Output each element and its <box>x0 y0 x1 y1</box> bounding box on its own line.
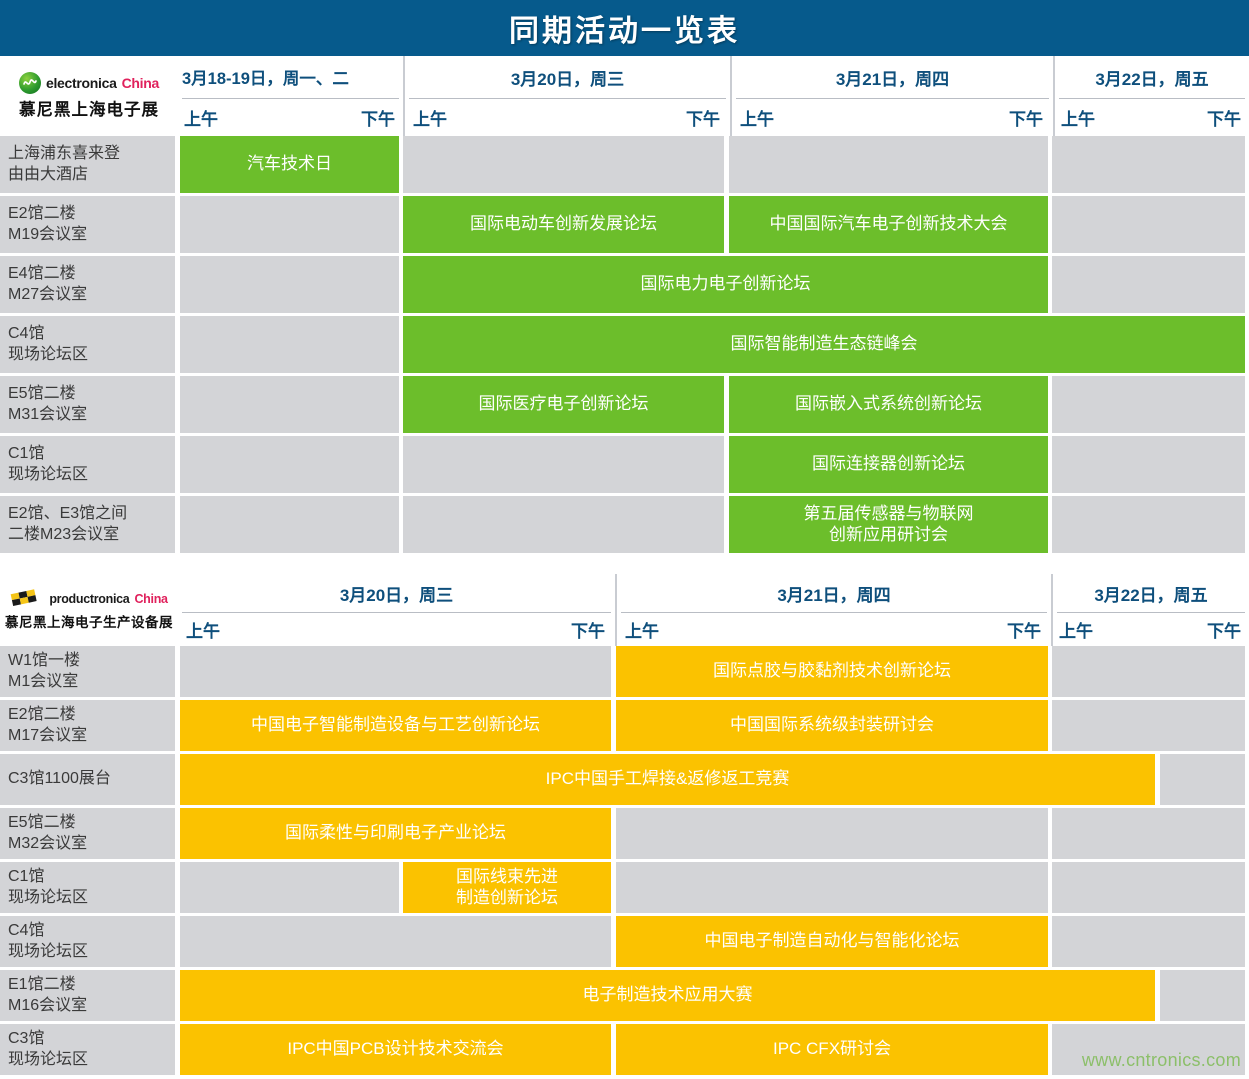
empty-cell <box>180 376 399 433</box>
venue-cell: E4馆二楼M27会议室 <box>0 256 175 313</box>
empty-cell <box>1052 646 1245 697</box>
event-cell[interactable]: 国际连接器创新论坛 <box>729 436 1048 493</box>
am-label: 上午 <box>617 613 834 646</box>
date-column-mar22: 3月22日，周五 上午 下午 <box>1051 574 1249 646</box>
venue-line: 上海浦东喜来登 <box>8 144 175 164</box>
venue-line: M32会议室 <box>8 834 175 854</box>
venue-cell: E2馆、E3馆之间二楼M23会议室 <box>0 496 175 553</box>
empty-cell <box>729 136 1048 193</box>
venue-line: 现场论坛区 <box>8 888 175 908</box>
venue-line: C4馆 <box>8 324 175 344</box>
empty-cell <box>1160 754 1245 805</box>
empty-cell <box>180 646 611 697</box>
site-watermark: www.cntronics.com <box>1082 1050 1241 1071</box>
electronica-wordmark: electronica <box>46 75 117 91</box>
electronica-chinese-name: 慕尼黑上海电子展 <box>19 96 159 120</box>
pm-label: 下午 <box>1151 613 1249 646</box>
venue-line: E4馆二楼 <box>8 264 175 284</box>
event-cell[interactable]: 第五届传感器与物联网 创新应用研讨会 <box>729 496 1048 553</box>
productronica-wordmark: productronica <box>49 592 129 606</box>
event-title: 国际线束先进 <box>456 867 558 888</box>
empty-cell <box>1052 256 1245 313</box>
venue-cell: E2馆二楼M19会议室 <box>0 196 175 253</box>
event-cell[interactable]: 国际线束先进 制造创新论坛 <box>403 862 611 913</box>
empty-cell <box>1052 496 1245 553</box>
venue-line: E2馆二楼 <box>8 705 175 725</box>
pm-label: 下午 <box>893 99 1054 136</box>
venue-line: 二楼M23会议室 <box>8 525 175 545</box>
empty-cell <box>180 496 399 553</box>
empty-cell <box>403 136 724 193</box>
schedule-page: 同期活动一览表 electronica China 慕尼黑上海电子展 3月18-… <box>0 0 1249 1079</box>
event-title: 中国国际汽车电子创新技术大会 <box>770 214 1008 235</box>
venue-line: E2馆、E3馆之间 <box>8 504 175 524</box>
venue-line: C3馆 <box>8 1029 175 1049</box>
event-title: 国际嵌入式系统创新论坛 <box>795 394 982 415</box>
empty-cell <box>403 496 724 553</box>
empty-cell <box>180 316 399 373</box>
pm-label: 下午 <box>834 613 1051 646</box>
event-title: IPC CFX研讨会 <box>773 1039 891 1060</box>
section-productronica: productronica China 慕尼黑上海电子生产设备展 3月20日，周… <box>0 574 1249 1079</box>
venue-cell: E1馆二楼M16会议室 <box>0 970 175 1021</box>
empty-cell <box>1052 376 1245 433</box>
venue-line: 现场论坛区 <box>8 1050 175 1070</box>
venue-line: M19会议室 <box>8 225 175 245</box>
date-label: 3月22日，周五 <box>1053 574 1249 612</box>
event-title: 中国电子制造自动化与智能化论坛 <box>705 931 960 952</box>
am-label: 上午 <box>405 99 568 136</box>
date-label: 3月21日，周四 <box>617 574 1051 612</box>
productronica-grid: W1馆一楼M1会议室 E2馆二楼M17会议室 C3馆1100展台 E5馆二楼M3… <box>0 646 1249 1079</box>
empty-cell <box>180 916 611 967</box>
productronica-date-headers: 3月20日，周三 上午 下午 3月21日，周四 上午 下午 <box>178 574 1249 646</box>
event-cell[interactable]: 国际点胶与胶黏剂技术创新论坛 <box>616 646 1048 697</box>
empty-cell <box>1052 862 1245 913</box>
date-label: 3月18-19日，周一、二 <box>178 56 403 98</box>
event-title: 国际医疗电子创新论坛 <box>479 394 649 415</box>
date-label: 3月21日，周四 <box>732 56 1053 98</box>
empty-cell <box>180 256 399 313</box>
productronica-header-row: productronica China 慕尼黑上海电子生产设备展 3月20日，周… <box>0 574 1249 646</box>
venue-cell: E5馆二楼M31会议室 <box>0 376 175 433</box>
event-title: 国际电动车创新发展论坛 <box>470 214 657 235</box>
empty-cell <box>1160 970 1245 1021</box>
am-label: 上午 <box>732 99 893 136</box>
event-title: 中国国际系统级封装研讨会 <box>730 715 934 736</box>
event-cell[interactable]: 中国电子制造自动化与智能化论坛 <box>616 916 1048 967</box>
empty-cell <box>1052 196 1245 253</box>
event-title: 电子制造技术应用大赛 <box>583 985 753 1006</box>
event-title: 国际柔性与印刷电子产业论坛 <box>285 823 506 844</box>
event-cell[interactable]: 国际电力电子创新论坛 <box>403 256 1048 313</box>
pm-label: 下午 <box>568 99 731 136</box>
globe-wave-icon <box>19 72 41 94</box>
empty-cell <box>1052 436 1245 493</box>
event-cell[interactable]: 国际医疗电子创新论坛 <box>403 376 724 433</box>
event-title: 国际智能制造生态链峰会 <box>731 334 918 355</box>
venue-cell: E5馆二楼M32会议室 <box>0 808 175 859</box>
event-title: 第五届传感器与物联网 <box>804 504 974 525</box>
empty-cell <box>1052 700 1245 751</box>
event-cell[interactable]: IPC中国PCB设计技术交流会 <box>180 1024 611 1075</box>
event-cell[interactable]: 国际嵌入式系统创新论坛 <box>729 376 1048 433</box>
event-title-line2: 制造创新论坛 <box>456 888 558 909</box>
event-title-line2: 创新应用研讨会 <box>804 525 974 546</box>
empty-cell <box>403 436 724 493</box>
date-column-mar20: 3月20日，周三 上午 下午 <box>403 56 730 136</box>
electronica-grid: 上海浦东喜来登由由大酒店 E2馆二楼M19会议室 E4馆二楼M27会议室 C4馆… <box>0 136 1249 574</box>
empty-cell <box>1052 136 1245 193</box>
am-label: 上午 <box>178 99 291 136</box>
electronica-suffix: China <box>122 75 159 91</box>
venue-line: M31会议室 <box>8 405 175 425</box>
date-column-mar21: 3月21日，周四 上午 下午 <box>730 56 1053 136</box>
venue-line: E2馆二楼 <box>8 204 175 224</box>
venue-cell: C4馆现场论坛区 <box>0 916 175 967</box>
event-cell[interactable]: 电子制造技术应用大赛 <box>180 970 1155 1021</box>
date-column-mar21: 3月21日，周四 上午 下午 <box>615 574 1051 646</box>
empty-cell <box>616 808 1048 859</box>
event-cell[interactable]: 中国国际系统级封装研讨会 <box>616 700 1048 751</box>
venue-cell: 上海浦东喜来登由由大酒店 <box>0 136 175 193</box>
productronica-chinese-name: 慕尼黑上海电子生产设备展 <box>5 611 173 631</box>
am-label: 上午 <box>1053 613 1151 646</box>
venue-cell: E2馆二楼M17会议室 <box>0 700 175 751</box>
venue-line: 现场论坛区 <box>8 465 175 485</box>
event-title: 国际点胶与胶黏剂技术创新论坛 <box>713 661 951 682</box>
empty-cell <box>1052 808 1245 859</box>
section-electronica: electronica China 慕尼黑上海电子展 3月18-19日，周一、二… <box>0 56 1249 574</box>
date-column-mar22: 3月22日，周五 上午 下午 <box>1053 56 1249 136</box>
date-column-mar20: 3月20日，周三 上午 下午 <box>178 574 615 646</box>
productronica-logo: productronica China 慕尼黑上海电子生产设备展 <box>0 574 178 646</box>
event-title: IPC中国PCB设计技术交流会 <box>287 1039 503 1060</box>
venue-line: W1馆一楼 <box>8 651 175 671</box>
event-cell[interactable]: 中国国际汽车电子创新技术大会 <box>729 196 1048 253</box>
empty-cell <box>1052 916 1245 967</box>
venue-line: M17会议室 <box>8 726 175 746</box>
productronica-suffix: China <box>134 592 167 606</box>
am-label: 上午 <box>178 613 397 646</box>
venue-line: M16会议室 <box>8 996 175 1016</box>
electronica-header-row: electronica China 慕尼黑上海电子展 3月18-19日，周一、二… <box>0 56 1249 136</box>
empty-cell <box>180 196 399 253</box>
pm-label: 下午 <box>291 99 404 136</box>
venue-line: E1馆二楼 <box>8 975 175 995</box>
venue-line: 现场论坛区 <box>8 345 175 365</box>
event-cell[interactable]: 国际智能制造生态链峰会 <box>403 316 1245 373</box>
page-title-bar: 同期活动一览表 <box>0 0 1249 56</box>
venue-line: 现场论坛区 <box>8 942 175 962</box>
venue-cell: C3馆1100展台 <box>0 754 175 805</box>
empty-cell <box>180 436 399 493</box>
page-title: 同期活动一览表 <box>509 6 740 50</box>
date-column-mar18-19: 3月18-19日，周一、二 上午 下午 <box>178 56 403 136</box>
venue-line: E5馆二楼 <box>8 813 175 833</box>
event-title: IPC中国手工焊接&返修返工竞赛 <box>546 769 790 790</box>
venue-cell: W1馆一楼M1会议室 <box>0 646 175 697</box>
event-cell[interactable]: IPC CFX研讨会 <box>616 1024 1048 1075</box>
event-cell[interactable]: 国际电动车创新发展论坛 <box>403 196 724 253</box>
venue-cell: C1馆现场论坛区 <box>0 862 175 913</box>
event-cell[interactable]: IPC中国手工焊接&返修返工竞赛 <box>180 754 1155 805</box>
event-cell[interactable]: 国际柔性与印刷电子产业论坛 <box>180 808 611 859</box>
event-title: 国际电力电子创新论坛 <box>641 274 811 295</box>
empty-cell <box>180 862 399 913</box>
pm-label: 下午 <box>397 613 616 646</box>
venue-cell: C4馆现场论坛区 <box>0 316 175 373</box>
date-label: 3月22日，周五 <box>1055 56 1249 98</box>
am-label: 上午 <box>1055 99 1152 136</box>
venue-line: C3馆1100展台 <box>8 769 175 789</box>
pm-label: 下午 <box>1152 99 1249 136</box>
event-title: 中国电子智能制造设备与工艺创新论坛 <box>251 715 540 736</box>
date-label: 3月20日，周三 <box>178 574 615 612</box>
venue-cell: C3馆现场论坛区 <box>0 1024 175 1075</box>
electronica-logo: electronica China 慕尼黑上海电子展 <box>0 56 178 136</box>
venue-line: M27会议室 <box>8 285 175 305</box>
electronica-date-headers: 3月18-19日，周一、二 上午 下午 3月20日，周三 上午 下午 <box>178 56 1249 136</box>
venue-line: C1馆 <box>8 867 175 887</box>
checker-flag-icon <box>10 589 44 609</box>
event-title: 汽车技术日 <box>247 154 332 175</box>
venue-cell: C1馆现场论坛区 <box>0 436 175 493</box>
venue-line: C1馆 <box>8 444 175 464</box>
event-cell[interactable]: 汽车技术日 <box>180 136 399 193</box>
venue-line: C4馆 <box>8 921 175 941</box>
date-label: 3月20日，周三 <box>405 56 730 98</box>
event-cell[interactable]: 中国电子智能制造设备与工艺创新论坛 <box>180 700 611 751</box>
empty-cell <box>616 862 1048 913</box>
venue-line: 由由大酒店 <box>8 165 175 185</box>
event-title: 国际连接器创新论坛 <box>812 454 965 475</box>
venue-line: E5馆二楼 <box>8 384 175 404</box>
venue-line: M1会议室 <box>8 672 175 692</box>
